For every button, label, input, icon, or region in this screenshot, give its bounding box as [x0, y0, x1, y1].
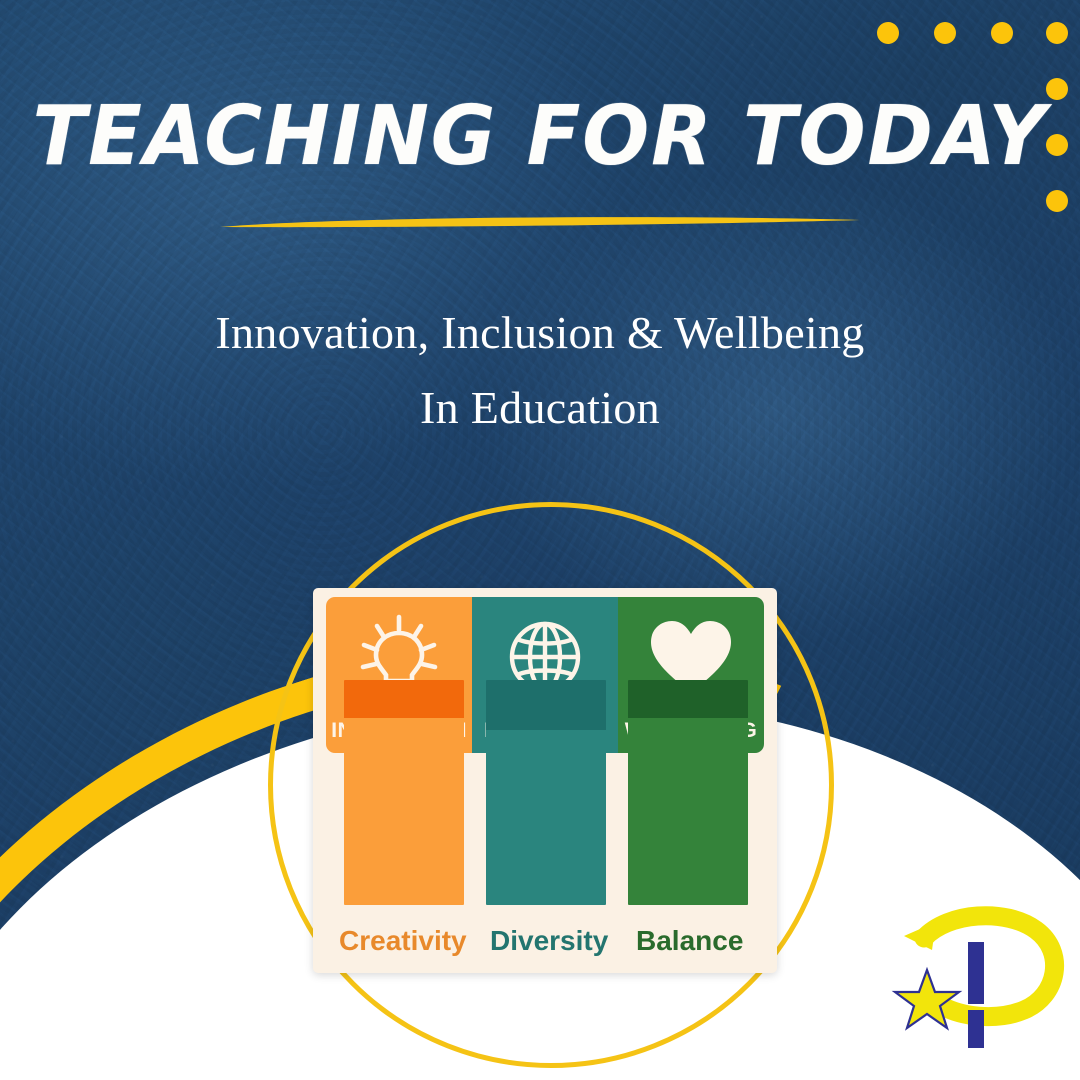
star-swoosh-p-logo[interactable] [888, 900, 1066, 1060]
decor-dot [991, 22, 1013, 44]
page-subtitle: Innovation, Inclusion & Wellbeing In Edu… [0, 296, 1080, 445]
title-block: TEACHING FOR TODAY [0, 96, 1080, 178]
subtitle-line-1: Innovation, Inclusion & Wellbeing [0, 296, 1080, 371]
decor-dot [1046, 190, 1068, 212]
poster-canvas: TEACHING FOR TODAY Innovation, Inclusion… [0, 0, 1080, 1080]
title-underline-icon [218, 214, 862, 230]
decor-dot [934, 22, 956, 44]
bar-innovation [344, 680, 464, 905]
foot-label-balance: Balance [636, 925, 743, 957]
blue-vertical-bar-top [968, 942, 984, 1004]
bar-wellbeing [628, 680, 748, 905]
bar-top-inclusion [486, 680, 606, 730]
foot-label-creativity: Creativity [339, 925, 467, 957]
subtitle-line-2: In Education [0, 371, 1080, 446]
bar-body-wellbeing [628, 718, 748, 905]
bar-body-innovation [344, 718, 464, 905]
decor-dot [1046, 22, 1068, 44]
bar-top-wellbeing [628, 680, 748, 718]
blue-vertical-bar-bottom [968, 1010, 984, 1048]
bar-body-inclusion [486, 730, 606, 905]
foot-label-diversity: Diversity [490, 925, 608, 957]
decor-dot [877, 22, 899, 44]
bar-inclusion [486, 680, 606, 905]
infographic-card: INNOVATION INCLUSION [313, 588, 777, 973]
page-title: TEACHING FOR TODAY [22, 96, 1059, 178]
bar-top-innovation [344, 680, 464, 718]
